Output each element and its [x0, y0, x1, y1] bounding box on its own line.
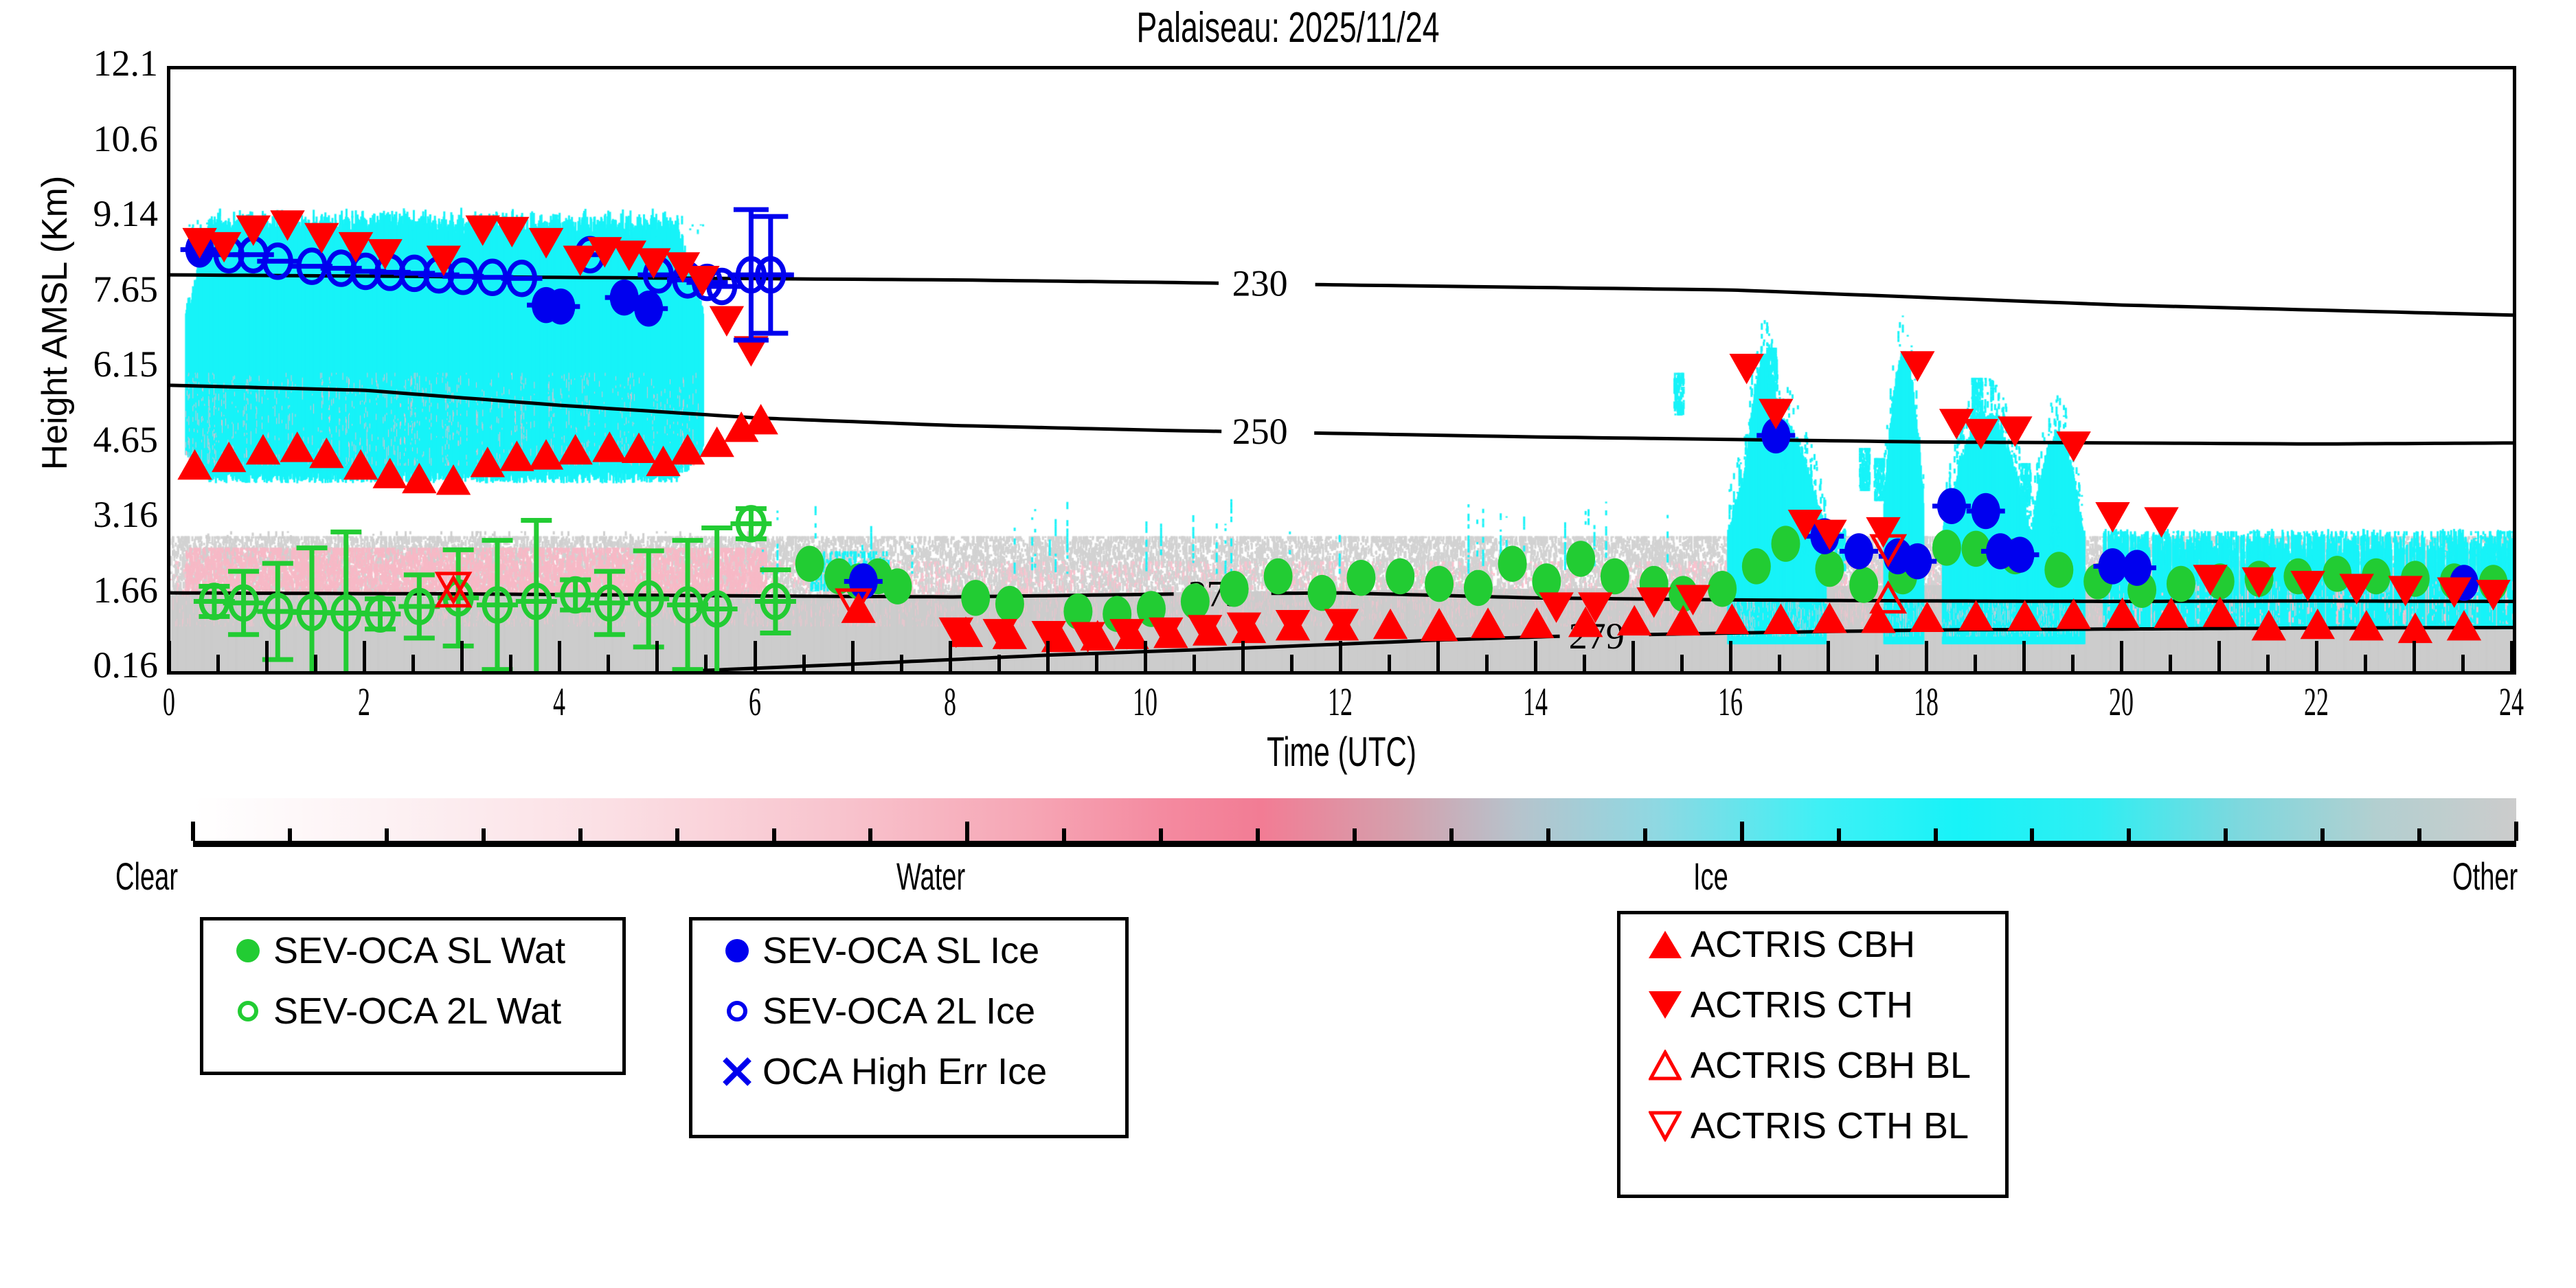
x-tick-mark	[1485, 655, 1489, 673]
marker-triangle-down	[368, 239, 402, 269]
x-tick-mark	[949, 641, 952, 673]
colorbar-tick	[2224, 828, 2228, 841]
marker-filled-circle	[1425, 566, 1454, 602]
x-tick-label: 18	[1892, 679, 1960, 725]
marker-triangle-up	[1812, 602, 1846, 633]
legend-item[interactable]: ACTRIS CBH	[1620, 914, 2005, 975]
colorbar-tick	[385, 828, 389, 841]
legend-item[interactable]: SEV-OCA SL Wat	[203, 920, 622, 981]
x-tick-mark	[1778, 655, 1781, 673]
x-tick-mark	[2461, 655, 2465, 673]
x-tick-mark	[509, 655, 512, 673]
marker-filled-circle	[1708, 571, 1737, 607]
marker-triangle-up	[1373, 609, 1408, 639]
marker-filled-circle	[795, 546, 824, 583]
contour-label-230: 230	[1232, 262, 1288, 304]
x-tick-mark	[1241, 641, 1245, 673]
marker-filled-circle	[1498, 546, 1527, 583]
colorbar-tick	[288, 828, 292, 841]
x-tick-mark	[1144, 641, 1147, 673]
marker-triangle-up	[670, 434, 705, 464]
x-tick-label: 4	[526, 679, 594, 725]
y-tick-label: 10.6	[0, 120, 158, 157]
x-tick-label: 6	[721, 679, 789, 725]
x-tick-label: 16	[1697, 679, 1765, 725]
x-tick-mark	[1729, 641, 1732, 673]
legend-item-label: ACTRIS CBH BL	[1691, 1047, 1971, 1084]
marker-filled-circle	[849, 563, 878, 600]
x-tick-mark	[1875, 655, 1879, 673]
x-tick-label: 8	[916, 679, 984, 725]
y-tick-label: 3.16	[0, 496, 158, 533]
marker-triangle-up	[499, 440, 534, 471]
marker-triangle-down	[529, 228, 563, 258]
marker-triangle-up	[212, 442, 246, 472]
x-tick-mark	[1290, 655, 1293, 673]
legend-item[interactable]: OCA High Err Ice	[692, 1041, 1125, 1102]
y-tick-label: 7.65	[0, 271, 158, 308]
marker-filled-circle	[1849, 567, 1878, 603]
y-tick-label: 4.65	[0, 421, 158, 458]
marker-triangle-up	[622, 433, 656, 463]
marker-triangle-up	[309, 438, 343, 468]
x-tick-mark	[754, 641, 757, 673]
marker-filled-circle	[1844, 533, 1873, 569]
marker-triangle-up	[2056, 598, 2090, 629]
marker-filled-circle	[1346, 560, 1375, 596]
x-tick-mark	[265, 641, 269, 673]
x-tick-mark	[1095, 655, 1098, 673]
marker-filled-circle	[1937, 488, 1966, 524]
marker-filled-circle	[2044, 552, 2073, 588]
ice-legend: SEV-OCA SL IceSEV-OCA 2L IceOCA High Err…	[689, 917, 1129, 1138]
x-tick-mark	[704, 655, 708, 673]
x-tick-mark	[460, 641, 464, 673]
colorbar-tick	[772, 828, 776, 841]
y-tick-label: 0.16	[0, 646, 158, 683]
marker-triangle-down	[465, 216, 499, 246]
x-tick-mark	[1631, 641, 1635, 673]
actris-legend: ACTRIS CBHACTRIS CTHACTRIS CBH BLACTRIS …	[1617, 911, 2009, 1198]
x-tick-label: 2	[330, 679, 398, 725]
marker-filled-circle	[1264, 558, 1293, 595]
x-tick-mark	[2364, 655, 2367, 673]
marker-triangle-down	[1729, 354, 1763, 384]
marker-triangle-up	[2007, 600, 2042, 630]
colorbar-tick	[1643, 828, 1647, 841]
marker-filled-circle	[546, 289, 575, 325]
marker-filled-circle	[1566, 541, 1595, 577]
marker-filled-circle	[634, 291, 663, 327]
page-title: Palaiseau: 2025/11/24	[361, 3, 2215, 52]
x-tick-mark	[168, 641, 171, 673]
marker-filled-circle	[1308, 575, 1337, 611]
colorbar-tick	[578, 828, 583, 841]
marker-triangle-up	[2301, 609, 2335, 639]
marker-filled-circle	[995, 586, 1024, 622]
marker-filled-circle	[1742, 548, 1771, 585]
x-tick-label: 24	[2477, 679, 2545, 725]
x-tick-mark	[1388, 655, 1391, 673]
x-axis-label: Time (UTC)	[519, 728, 2164, 776]
x-tick-mark	[1193, 655, 1196, 673]
colorbar-tick	[1740, 822, 1744, 841]
colorbar-tick	[191, 822, 195, 841]
marker-triangle-up	[280, 431, 315, 462]
marker-triangle-down	[236, 216, 271, 246]
marker-triangle-up	[2447, 610, 2481, 640]
marker-triangle-up	[372, 457, 407, 488]
marker-filled-circle	[1181, 583, 1210, 620]
marker-triangle-up	[592, 431, 626, 462]
colorbar-tick	[2030, 828, 2034, 841]
legend-item-label: SEV-OCA SL Ice	[762, 932, 1039, 969]
x-tick-mark	[2510, 641, 2513, 673]
colorbar-tick	[675, 828, 679, 841]
marker-filled-circle	[1386, 558, 1414, 595]
marker-filled-circle	[1903, 543, 1932, 580]
marker-triangle-up	[343, 449, 378, 479]
x-tick-mark	[2413, 641, 2416, 673]
x-tick-mark	[2217, 641, 2221, 673]
x-tick-mark	[1680, 655, 1684, 673]
x-tick-mark	[607, 655, 610, 673]
x-tick-mark	[314, 655, 317, 673]
marker-filled-circle	[1220, 571, 1249, 607]
marker-triangle-up	[436, 464, 471, 495]
filled-triangle-down-icon	[1640, 991, 1691, 1019]
colorbar-label-other: Other	[2452, 854, 2518, 899]
marker-triangle-up	[177, 449, 212, 479]
x-tick-mark	[2071, 655, 2075, 673]
x-tick-mark	[655, 641, 659, 673]
marker-triangle-down	[1759, 399, 1793, 429]
legend-item[interactable]: ACTRIS CTH BL	[1620, 1096, 2005, 1156]
marker-filled-circle	[2005, 536, 2034, 573]
marker-triangle-up	[1715, 604, 1749, 634]
open-circle-icon	[712, 1001, 762, 1021]
x-tick-label: 0	[135, 679, 203, 725]
marker-filled-circle	[883, 568, 912, 605]
x-tick-mark	[2022, 641, 2026, 673]
x-tick-mark	[1046, 641, 1050, 673]
x-tick-mark	[558, 641, 561, 673]
x-tick-label: 10	[1111, 679, 1179, 725]
x-tick-mark	[802, 655, 806, 673]
colorbar-tick	[1934, 828, 1938, 841]
marker-filled-circle	[1962, 531, 1991, 567]
marker-filled-circle	[2167, 566, 2195, 602]
colorbar-tick	[1256, 828, 1260, 841]
x-tick-mark	[411, 655, 415, 673]
filled-circle-icon	[712, 939, 762, 962]
open-circle-icon	[223, 1001, 273, 1021]
data-overlay: 230250273279	[170, 69, 2513, 671]
marker-triangle-up	[1861, 602, 1895, 633]
x-tick-label: 20	[2087, 679, 2155, 725]
temperature-contour-250	[170, 385, 2513, 444]
marker-triangle-up	[2349, 610, 2384, 640]
marker-triangle-down	[2056, 431, 2090, 462]
y-tick-label: 12.1	[0, 45, 158, 82]
marker-filled-circle	[1971, 493, 2000, 530]
colorbar-tick	[2320, 828, 2325, 841]
x-tick-mark	[851, 641, 855, 673]
colorbar-tick	[2514, 822, 2518, 841]
legend-item-label: SEV-OCA SL Wat	[273, 932, 565, 969]
marker-triangle-up	[1519, 607, 1554, 637]
filled-triangle-up-icon	[1640, 931, 1691, 958]
marker-triangle-up	[1910, 602, 1944, 632]
marker-triangle-up	[402, 463, 436, 493]
colorbar-tick	[965, 822, 969, 841]
marker-filled-circle	[1601, 558, 1629, 595]
marker-triangle-down	[495, 217, 529, 247]
legend-item[interactable]: SEV-OCA 2L Ice	[692, 981, 1125, 1041]
marker-filled-circle	[1771, 526, 1800, 562]
marker-triangle-down	[710, 306, 744, 337]
legend-item-label: SEV-OCA 2L Ice	[762, 993, 1035, 1030]
x-tick-mark	[1974, 655, 1977, 673]
marker-triangle-down	[1636, 587, 1671, 618]
colorbar-tick	[2417, 828, 2421, 841]
legend-item[interactable]: ACTRIS CBH BL	[1620, 1035, 2005, 1096]
y-tick-label: 1.66	[0, 572, 158, 609]
marker-filled-circle	[961, 580, 990, 616]
x-tick-mark	[1583, 655, 1586, 673]
legend-item-label: ACTRIS CBH	[1691, 926, 1915, 963]
colorbar-tick	[1837, 828, 1841, 841]
water-legend: SEV-OCA SL WatSEV-OCA 2L Wat	[200, 917, 626, 1075]
marker-triangle-down	[2476, 580, 2510, 610]
contour-label-250: 250	[1232, 411, 1288, 452]
x-tick-mark	[1925, 641, 1928, 673]
open-triangle-up-icon	[1640, 1050, 1691, 1081]
marker-triangle-up	[2252, 610, 2286, 640]
open-triangle-down-icon	[1640, 1110, 1691, 1142]
colorbar-tick	[1062, 828, 1066, 841]
x-tick-mark	[1436, 641, 1440, 673]
marker-triangle-down	[1900, 351, 1934, 381]
colorbar-tick	[1546, 828, 1550, 841]
legend-item[interactable]: SEV-OCA SL Ice	[692, 920, 1125, 981]
x-tick-mark	[900, 655, 903, 673]
y-tick-label: 9.14	[0, 195, 158, 232]
colorbar-tick	[1449, 828, 1454, 841]
legend-item[interactable]: SEV-OCA 2L Wat	[203, 981, 622, 1041]
colorbar-tick	[482, 828, 486, 841]
colorbar-label-clear: Clear	[115, 854, 178, 899]
marker-triangle-up	[1471, 607, 1505, 637]
colorbar-tick	[1353, 828, 1357, 841]
legend-item-label: SEV-OCA 2L Wat	[273, 993, 561, 1030]
colorbar-label-water: Water	[896, 854, 965, 899]
colorbar-axis	[193, 841, 2516, 847]
legend-item-label: ACTRIS CTH	[1691, 986, 1913, 1024]
plot-canvas-wrapper: 230250273279	[170, 69, 2513, 671]
legend-item-label: OCA High Err Ice	[762, 1053, 1047, 1090]
marker-filled-circle	[2123, 550, 2151, 586]
x-tick-mark	[216, 655, 220, 673]
x-tick-label: 12	[1306, 679, 1374, 725]
marker-triangle-up	[471, 447, 505, 477]
x-tick-mark	[1339, 641, 1342, 673]
marker-triangle-up	[558, 434, 592, 464]
marker-triangle-up	[246, 434, 280, 464]
marker-triangle-down	[270, 210, 304, 240]
marker-triangle-up	[1763, 604, 1798, 634]
plot-area[interactable]: 230250273279	[167, 66, 2516, 675]
colorbar-tick	[2127, 828, 2131, 841]
colorbar-tick	[1159, 828, 1163, 841]
marker-triangle-down	[339, 232, 373, 262]
x-tick-mark	[1827, 641, 1830, 673]
x-tick-mark	[2120, 641, 2123, 673]
x-tick-mark	[2169, 655, 2172, 673]
x-tick-label: 22	[2282, 679, 2350, 725]
colorbar-tick	[868, 828, 872, 841]
marker-triangle-down	[2095, 502, 2129, 532]
x-tick-mark	[1534, 641, 1537, 673]
marker-triangle-up	[1958, 600, 1993, 630]
marker-filled-circle	[1464, 570, 1493, 607]
marker-filled-circle	[1815, 551, 1844, 587]
marker-triangle-down	[1963, 419, 1998, 449]
legend-item-label: ACTRIS CTH BL	[1691, 1107, 1969, 1144]
filled-circle-icon	[223, 939, 273, 962]
x-tick-mark	[363, 641, 366, 673]
marker-triangle-up	[529, 439, 563, 469]
marker-triangle-down	[2144, 507, 2178, 537]
legend-item[interactable]: ACTRIS CTH	[1620, 975, 2005, 1035]
cross-icon	[712, 1055, 762, 1088]
y-tick-label: 6.15	[0, 346, 158, 383]
x-tick-mark	[2266, 655, 2270, 673]
x-tick-mark	[2315, 641, 2318, 673]
x-tick-mark	[997, 655, 1001, 673]
colorbar-label-ice: Ice	[1693, 854, 1728, 899]
x-tick-label: 14	[1502, 679, 1570, 725]
